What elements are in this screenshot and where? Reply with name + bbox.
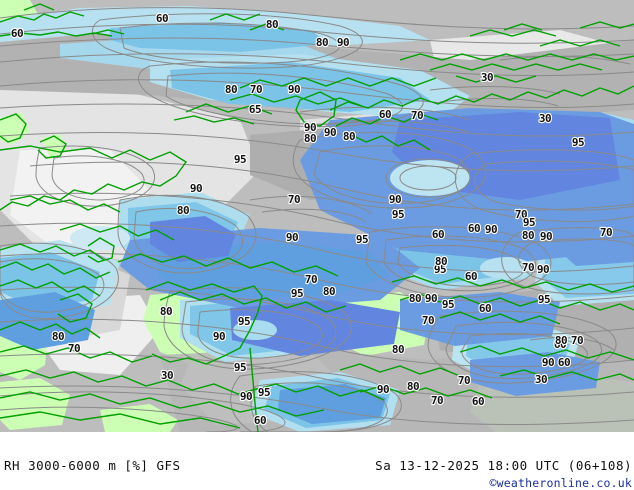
contour-label: 70 — [522, 261, 534, 274]
contour-label: 95 — [392, 208, 404, 221]
contour-label: 70 — [68, 342, 80, 355]
contour-label: 70 — [305, 273, 317, 286]
contour-label: 80 — [52, 330, 64, 343]
contour-label: 95 — [523, 216, 535, 229]
contour-label: 80 — [266, 18, 278, 31]
contour-label: 60 — [156, 12, 168, 25]
contour-label: 95 — [538, 293, 550, 306]
relative-humidity-map[interactable]: 6060808090308070906590809080607030959590… — [0, 0, 634, 432]
valid-time: Sa 13-12-2025 18:00 UTC (06+108) — [375, 458, 632, 473]
contour-label: 60 — [472, 395, 484, 408]
contour-label: 60 — [468, 222, 480, 235]
contour-label: 80 — [435, 255, 447, 268]
contour-label: 60 — [379, 108, 391, 121]
contour-label: 70 — [571, 334, 583, 347]
contour-label: 60 — [432, 228, 444, 241]
contour-label: 80 — [177, 204, 189, 217]
map-footer: RH 3000-6000 m [%] GFS Sa 13-12-2025 18:… — [0, 432, 634, 490]
contour-label: 90 — [540, 230, 552, 243]
contour-label: 80 — [304, 132, 316, 145]
contour-label: 70 — [600, 226, 612, 239]
contour-label: 80 — [323, 285, 335, 298]
contour-label: 80 — [225, 83, 237, 96]
contour-label: 90 — [324, 126, 336, 139]
contour-label: 95 — [442, 298, 454, 311]
contour-label: 95 — [291, 287, 303, 300]
contour-label: 80 — [316, 36, 328, 49]
contour-label: 90 — [425, 292, 437, 305]
contour-label: 70 — [431, 394, 443, 407]
contour-label: 65 — [249, 103, 261, 116]
contour-label: 80 — [392, 343, 404, 356]
contour-label: 90 — [190, 182, 202, 195]
copyright-credit: ©weatheronline.co.uk — [490, 476, 632, 490]
map-canvas[interactable]: 6060808090308070906590809080607030959590… — [0, 0, 634, 432]
contour-label: 90 — [377, 383, 389, 396]
contour-label: 30 — [535, 373, 547, 386]
contour-label: 70 — [288, 193, 300, 206]
weather-map-page: 6060808090308070906590809080607030959590… — [0, 0, 634, 490]
contour-label: 70 — [250, 83, 262, 96]
contour-label: 70 — [422, 314, 434, 327]
contour-label: 60 — [479, 302, 491, 315]
contour-label: 95 — [234, 361, 246, 374]
contour-label: 95 — [258, 386, 270, 399]
contour-label: 80 — [555, 334, 567, 347]
contour-label: 90 — [286, 231, 298, 244]
contour-label: 90 — [213, 330, 225, 343]
contour-label: 60 — [465, 270, 477, 283]
contour-label: 95 — [234, 153, 246, 166]
contour-label: 80 — [343, 130, 355, 143]
contour-label: 90 — [288, 83, 300, 96]
contour-label: 90 — [542, 356, 554, 369]
product-title: RH 3000-6000 m [%] GFS — [4, 458, 181, 473]
contour-label: 30 — [539, 112, 551, 125]
contour-label: 80 — [522, 229, 534, 242]
contour-label: 60 — [254, 414, 266, 427]
contour-label: 30 — [481, 71, 493, 84]
contour-label: 95 — [572, 136, 584, 149]
contour-label: 30 — [161, 369, 173, 382]
contour-label: 80 — [160, 305, 172, 318]
contour-label: 90 — [485, 223, 497, 236]
contour-label: 80 — [409, 292, 421, 305]
contour-label: 95 — [238, 315, 250, 328]
contour-label: 95 — [356, 233, 368, 246]
contour-label: 90 — [240, 390, 252, 403]
contour-label: 90 — [337, 36, 349, 49]
contour-label: 70 — [458, 374, 470, 387]
contour-label: 60 — [11, 27, 23, 40]
contour-label: 70 — [411, 109, 423, 122]
contour-label: 90 — [537, 263, 549, 276]
contour-label: 60 — [558, 356, 570, 369]
contour-label: 90 — [389, 193, 401, 206]
contour-label: 80 — [407, 380, 419, 393]
